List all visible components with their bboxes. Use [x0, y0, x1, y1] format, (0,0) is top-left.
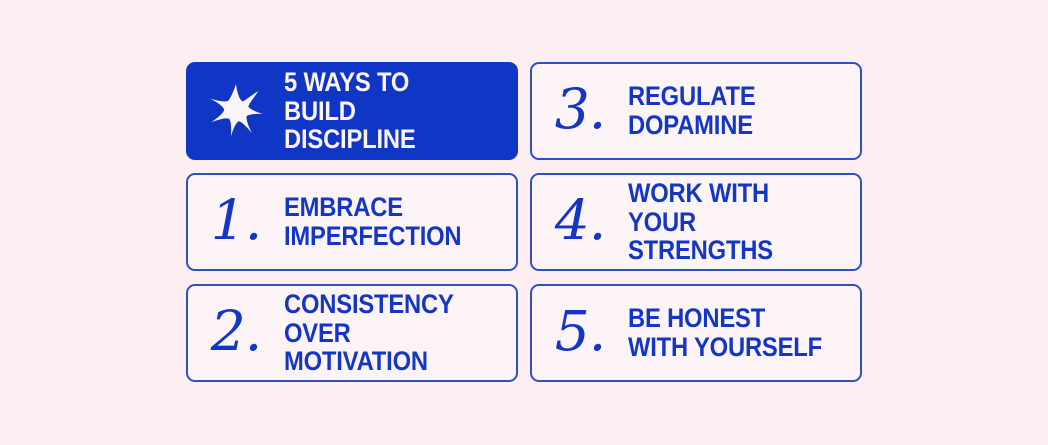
step-3-headline: REGULATE DOPAMINE [628, 82, 832, 139]
step-1-number-slot: 1. [188, 175, 284, 269]
card-grid: 5 WAYS TO BUILD DISCIPLINE 3. REGULATE D… [186, 62, 862, 382]
title-card: 5 WAYS TO BUILD DISCIPLINE [186, 62, 518, 160]
step-card-1: 1. EMBRACE IMPERFECTION [186, 173, 518, 271]
step-1-headline: EMBRACE IMPERFECTION [284, 193, 488, 250]
infographic-root: 5 WAYS TO BUILD DISCIPLINE 3. REGULATE D… [0, 0, 1048, 445]
step-4-number: 4. [555, 193, 605, 248]
step-1-number: 1. [211, 193, 261, 248]
step-5-number: 5. [555, 304, 605, 359]
step-3-number: 3. [555, 82, 605, 137]
step-2-headline: CONSISTENCY OVER MOTIVATION [284, 290, 488, 376]
step-4-number-slot: 4. [532, 175, 628, 269]
step-card-4: 4. WORK WITH YOUR STRENGTHS [530, 173, 862, 271]
step-4-headline: WORK WITH YOUR STRENGTHS [628, 179, 832, 265]
step-3-number-slot: 3. [532, 64, 628, 158]
step-card-3: 3. REGULATE DOPAMINE [530, 62, 862, 160]
title-card-headline: 5 WAYS TO BUILD DISCIPLINE [284, 68, 488, 154]
step-card-5: 5. BE HONEST WITH YOURSELF [530, 284, 862, 382]
step-2-number-slot: 2. [188, 286, 284, 380]
step-card-2: 2. CONSISTENCY OVER MOTIVATION [186, 284, 518, 382]
title-card-icon-slot [188, 64, 284, 158]
step-2-number: 2. [211, 304, 261, 359]
eight-point-star-icon [208, 83, 264, 139]
step-5-number-slot: 5. [532, 286, 628, 380]
step-5-headline: BE HONEST WITH YOURSELF [628, 304, 832, 361]
